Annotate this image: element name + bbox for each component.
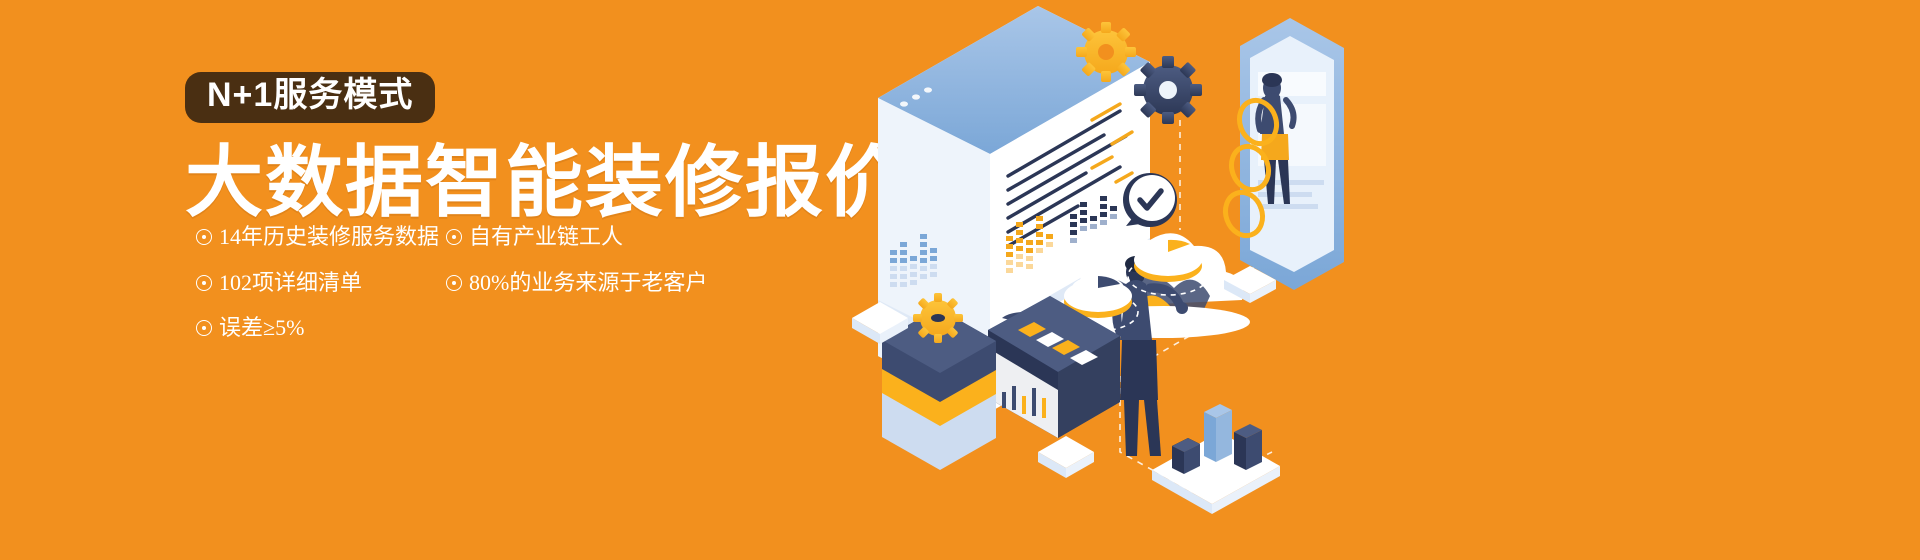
list-item: 14年历史装修服务数据 xyxy=(196,222,446,252)
list-item: 误差≥5% xyxy=(196,313,446,343)
bullet-label: 102项详细清单 xyxy=(219,268,362,298)
bar-blue xyxy=(1204,404,1232,462)
page-title: 大数据智能装修报价 xyxy=(185,143,885,221)
list-item: 102项详细清单 xyxy=(196,268,446,298)
bullet-label: 80%的业务来源于老客户 xyxy=(469,268,707,298)
bar-navy-tall xyxy=(1234,424,1262,470)
bullet-row: 误差≥5% xyxy=(196,313,836,343)
floating-tile xyxy=(1038,436,1094,478)
feature-bullets: 14年历史装修服务数据 自有产业链工人 102项详细清单 8 xyxy=(196,222,836,359)
bar-tower xyxy=(1152,404,1280,514)
circle-dot-icon xyxy=(196,275,212,291)
bullet-label: 误差≥5% xyxy=(219,313,304,343)
list-item: 80%的业务来源于老客户 xyxy=(446,268,766,298)
bullet-label: 14年历史装修服务数据 xyxy=(219,222,439,252)
bullet-row: 14年历史装修服务数据 自有产业链工人 xyxy=(196,222,836,252)
list-item: 自有产业链工人 xyxy=(446,222,766,252)
circle-dot-icon xyxy=(196,320,212,336)
gear-navy xyxy=(1134,56,1202,124)
bullet-label: 自有产业链工人 xyxy=(469,222,623,252)
gear-yellow xyxy=(1076,22,1136,82)
circle-dot-icon xyxy=(446,229,462,245)
promo-banner: N+1服务模式 大数据智能装修报价 14年历史装修服务数据 自有产业链工人 xyxy=(0,0,1920,560)
circle-dot-icon xyxy=(446,275,462,291)
smartphone xyxy=(1240,18,1344,290)
service-mode-badge: N+1服务模式 xyxy=(185,72,435,123)
check-badge xyxy=(1123,173,1177,227)
copy-block: N+1服务模式 大数据智能装修报价 xyxy=(185,72,885,221)
bullet-row: 102项详细清单 80%的业务来源于老客户 xyxy=(196,268,836,298)
isometric-big-data-illustration xyxy=(820,0,1420,560)
circle-dot-icon xyxy=(196,229,212,245)
